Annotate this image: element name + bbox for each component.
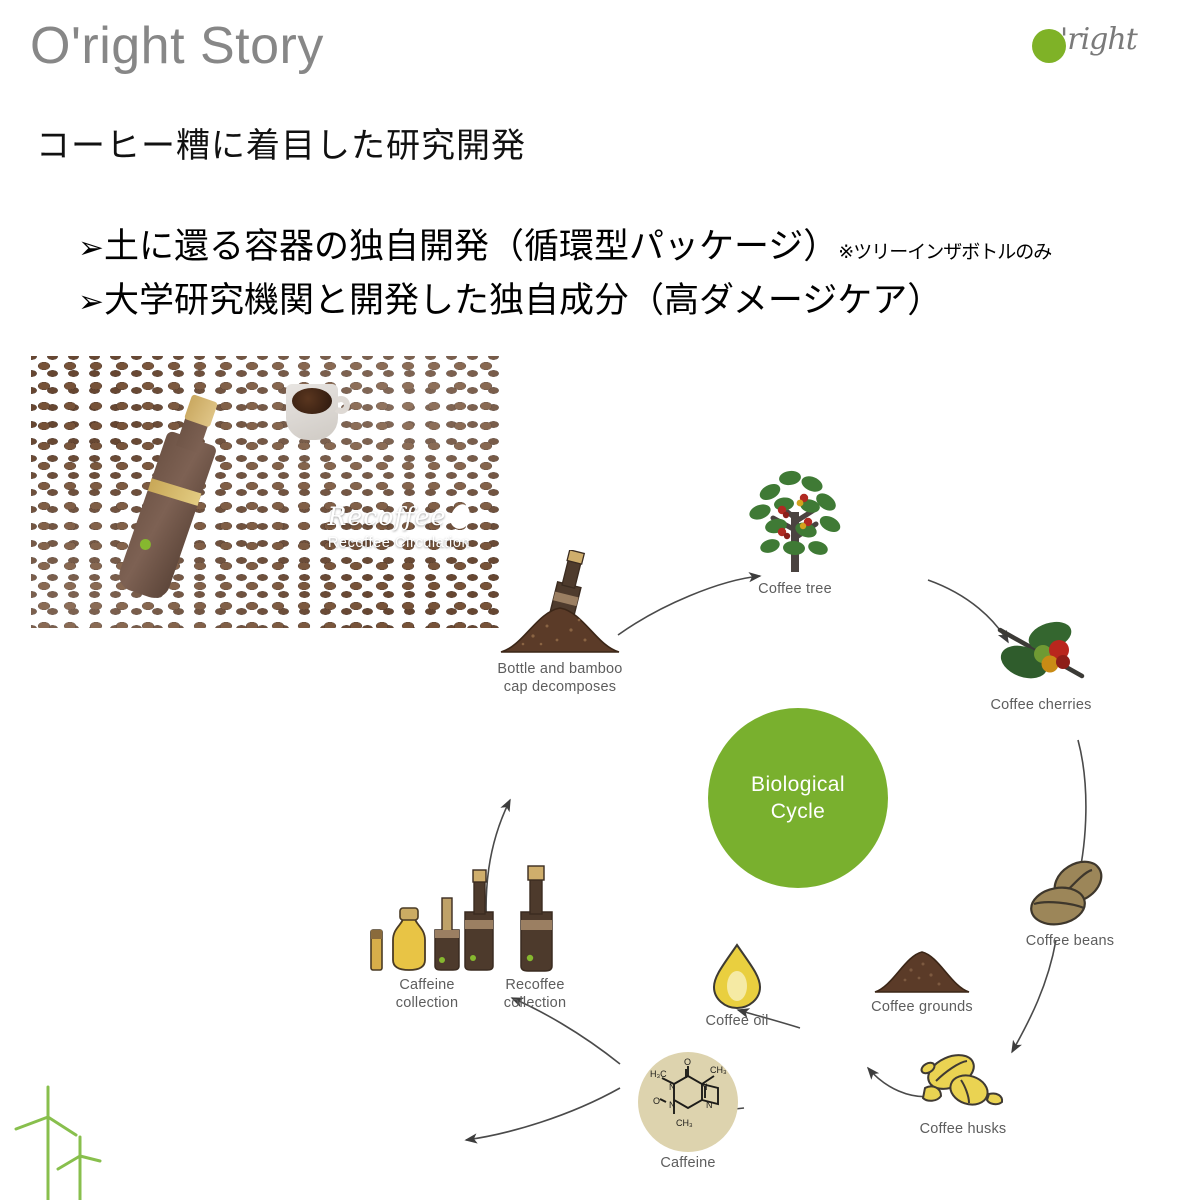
bullet-text-2: 大学研究機関と開発した独自成分（高ダメージケア） xyxy=(104,281,942,320)
svg-text:N: N xyxy=(669,1082,676,1092)
svg-text:N: N xyxy=(701,1082,708,1092)
bullet-item-2: ➢大学研究機関と開発した独自成分（高ダメージケア） xyxy=(78,272,942,323)
bullet-item-1: ➢土に還る容器の独自開発（循環型パッケージ）※ツリーインザボトルのみ xyxy=(78,218,1051,269)
node-label-bottle-decomposes-1: Bottle and bamboo xyxy=(450,660,670,678)
node-label-coffee-cherries: Coffee cherries xyxy=(966,696,1116,714)
node-coffee-tree: Coffee tree xyxy=(725,460,865,598)
svg-text:H₃C: H₃C xyxy=(650,1069,667,1079)
node-label-recoffee-collection-1: Recoffee xyxy=(470,976,600,994)
svg-text:O: O xyxy=(653,1096,660,1106)
bullet-marker-icon: ➢ xyxy=(78,230,104,265)
node-label-coffee-grounds: Coffee grounds xyxy=(842,998,1002,1016)
node-bottle-decomposes: Bottle and bamboo cap decomposes xyxy=(450,550,670,696)
svg-text:CH₃: CH₃ xyxy=(676,1118,693,1128)
node-label-coffee-beans: Coffee beans xyxy=(990,932,1150,950)
bullet-note-1: ※ツリーインザボトルのみ xyxy=(838,242,1051,263)
brand-wordmark: 'right xyxy=(1060,22,1137,57)
coffee-oil-icon xyxy=(704,940,770,1012)
node-coffee-beans: Coffee beans xyxy=(990,858,1150,950)
center-label: Biological Cycle xyxy=(751,771,845,826)
bullet-marker-icon: ➢ xyxy=(78,284,104,319)
coffee-tree-icon xyxy=(740,460,850,580)
section-subtitle: コーヒー糟に着目した研究開発 xyxy=(36,118,526,167)
caffeine-molecule-icon: H₃C CH₃ CH₃ O O N N N N xyxy=(636,1050,740,1154)
wind-turbines-icon xyxy=(12,1085,132,1200)
bottle-decomposing-icon xyxy=(485,550,635,660)
center-label-line2: Cycle xyxy=(751,798,845,825)
node-label-coffee-tree: Coffee tree xyxy=(725,580,865,598)
node-label-caffeine: Caffeine xyxy=(608,1154,768,1172)
biological-cycle-diagram: Coffee tree Coffee cherries xyxy=(330,440,1200,1200)
page-title: O'right Story xyxy=(30,16,324,76)
coffee-cherries-icon xyxy=(986,610,1096,696)
node-label-bottle-decomposes-2: cap decomposes xyxy=(450,678,670,696)
coffee-beans-icon xyxy=(1020,858,1120,932)
recoffee-collection-icon xyxy=(505,838,565,976)
svg-text:CH₃: CH₃ xyxy=(710,1065,727,1075)
node-label-coffee-oil: Coffee oil xyxy=(667,1012,807,1030)
node-recoffee-collection: Recoffee collection xyxy=(470,838,600,1012)
bullet-text-1: 土に還る容器の独自開発（循環型パッケージ） xyxy=(104,227,838,266)
coffee-grounds-icon xyxy=(867,942,977,998)
brand-logo: 'right xyxy=(1032,22,1152,70)
svg-text:O: O xyxy=(684,1057,691,1067)
node-label-recoffee-collection-2: collection xyxy=(470,994,600,1012)
node-label-coffee-husks: Coffee husks xyxy=(878,1120,1048,1138)
biological-cycle-center: Biological Cycle xyxy=(708,708,888,888)
photo-coffee-cup-icon xyxy=(286,384,346,446)
svg-text:N: N xyxy=(706,1100,713,1110)
node-coffee-cherries: Coffee cherries xyxy=(966,610,1116,714)
node-coffee-grounds: Coffee grounds xyxy=(842,942,1002,1016)
svg-text:N: N xyxy=(669,1100,676,1110)
center-label-line1: Biological xyxy=(751,771,845,798)
node-coffee-oil: Coffee oil xyxy=(667,940,807,1030)
node-caffeine: H₃C CH₃ CH₃ O O N N N N Caffeine xyxy=(608,1050,768,1172)
coffee-husks-icon xyxy=(903,1048,1023,1120)
slide-canvas: O'right Story 'right コーヒー糟に着目した研究開発 ➢土に還… xyxy=(0,0,1200,1200)
node-coffee-husks: Coffee husks xyxy=(878,1048,1048,1138)
